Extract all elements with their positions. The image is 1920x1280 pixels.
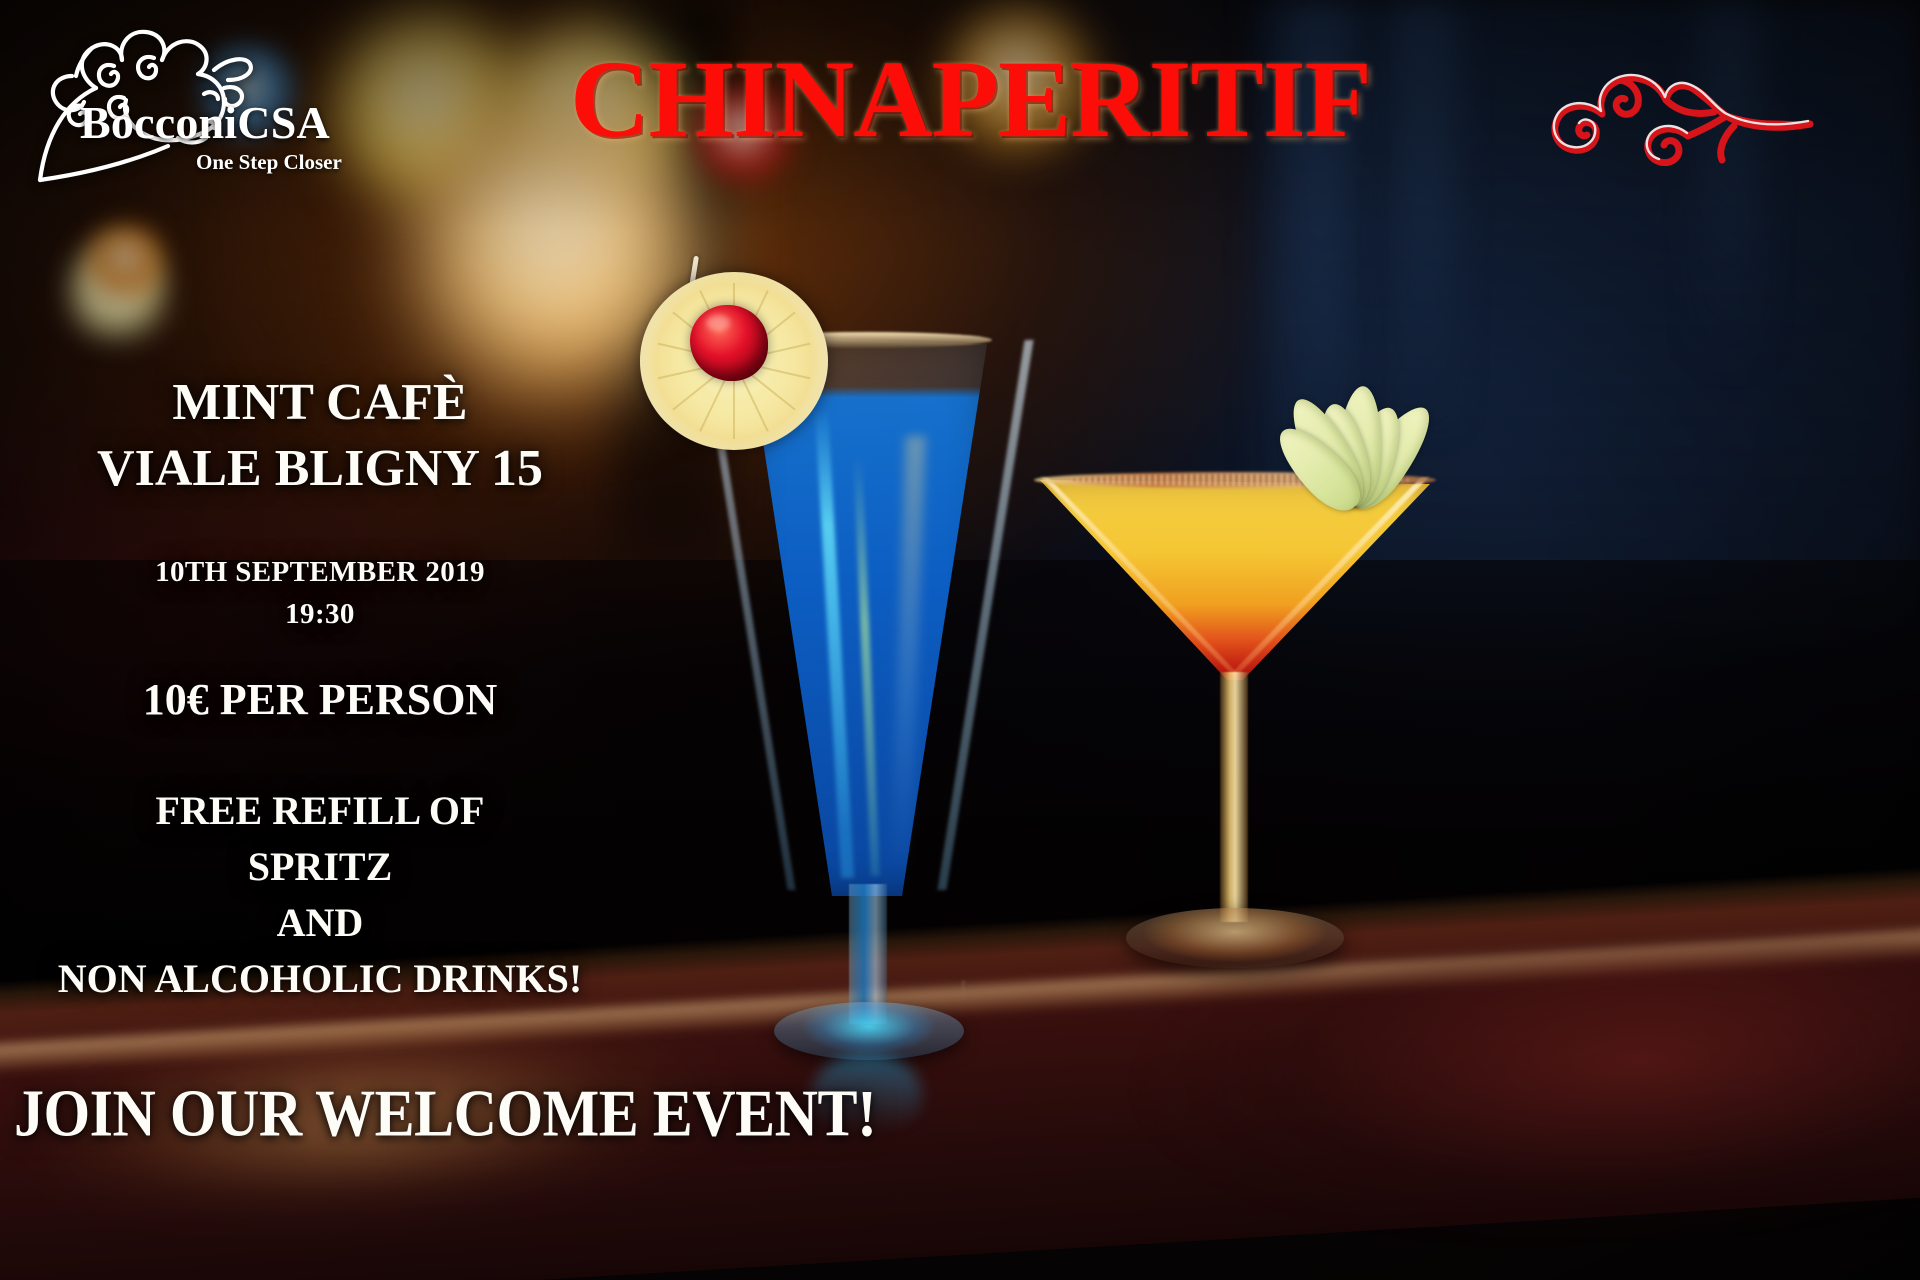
offer-line-3: AND bbox=[0, 895, 640, 951]
martini-bowl bbox=[1040, 480, 1430, 680]
brand-logo[interactable]: BocconiCSA One Step Closer bbox=[18, 14, 398, 174]
martini-base bbox=[1126, 908, 1344, 968]
offer-line-4: NON ALCOHOLIC DRINKS! bbox=[0, 951, 640, 1007]
flute-base bbox=[774, 1002, 964, 1060]
page-title: CHINAPERITIF bbox=[570, 36, 1371, 163]
venue-name: MINT CAFÈ bbox=[0, 370, 640, 436]
venue-block: MINT CAFÈ VIALE BLIGNY 15 bbox=[0, 370, 640, 502]
offer-line-2: SPRITZ bbox=[0, 839, 640, 895]
maraschino-cherry-garnish bbox=[690, 305, 768, 381]
brand-name: BocconiCSA bbox=[80, 96, 330, 149]
brand-tagline: One Step Closer bbox=[196, 150, 342, 175]
chinese-cloud-icon bbox=[1528, 38, 1828, 166]
event-time: 19:30 bbox=[0, 593, 640, 635]
martini-cocktail bbox=[1040, 472, 1430, 1032]
venue-address: VIALE BLIGNY 15 bbox=[0, 436, 640, 502]
event-date: 10TH SEPTEMBER 2019 bbox=[0, 551, 640, 593]
cherry-highlight bbox=[706, 315, 730, 331]
offer-block: FREE REFILL OF SPRITZ AND NON ALCOHOLIC … bbox=[0, 783, 640, 1007]
event-poster: BocconiCSA One Step Closer CHINAPERITIF … bbox=[0, 0, 1920, 1280]
martini-stem bbox=[1220, 672, 1248, 922]
datetime-block: 10TH SEPTEMBER 2019 19:30 bbox=[0, 551, 640, 635]
call-to-action: JOIN OUR WELCOME EVENT! bbox=[14, 1075, 1014, 1152]
blue-cocktail-flute bbox=[742, 336, 992, 1036]
offer-line-1: FREE REFILL OF bbox=[0, 783, 640, 839]
price-label: 10€ PER PERSON bbox=[0, 674, 640, 725]
